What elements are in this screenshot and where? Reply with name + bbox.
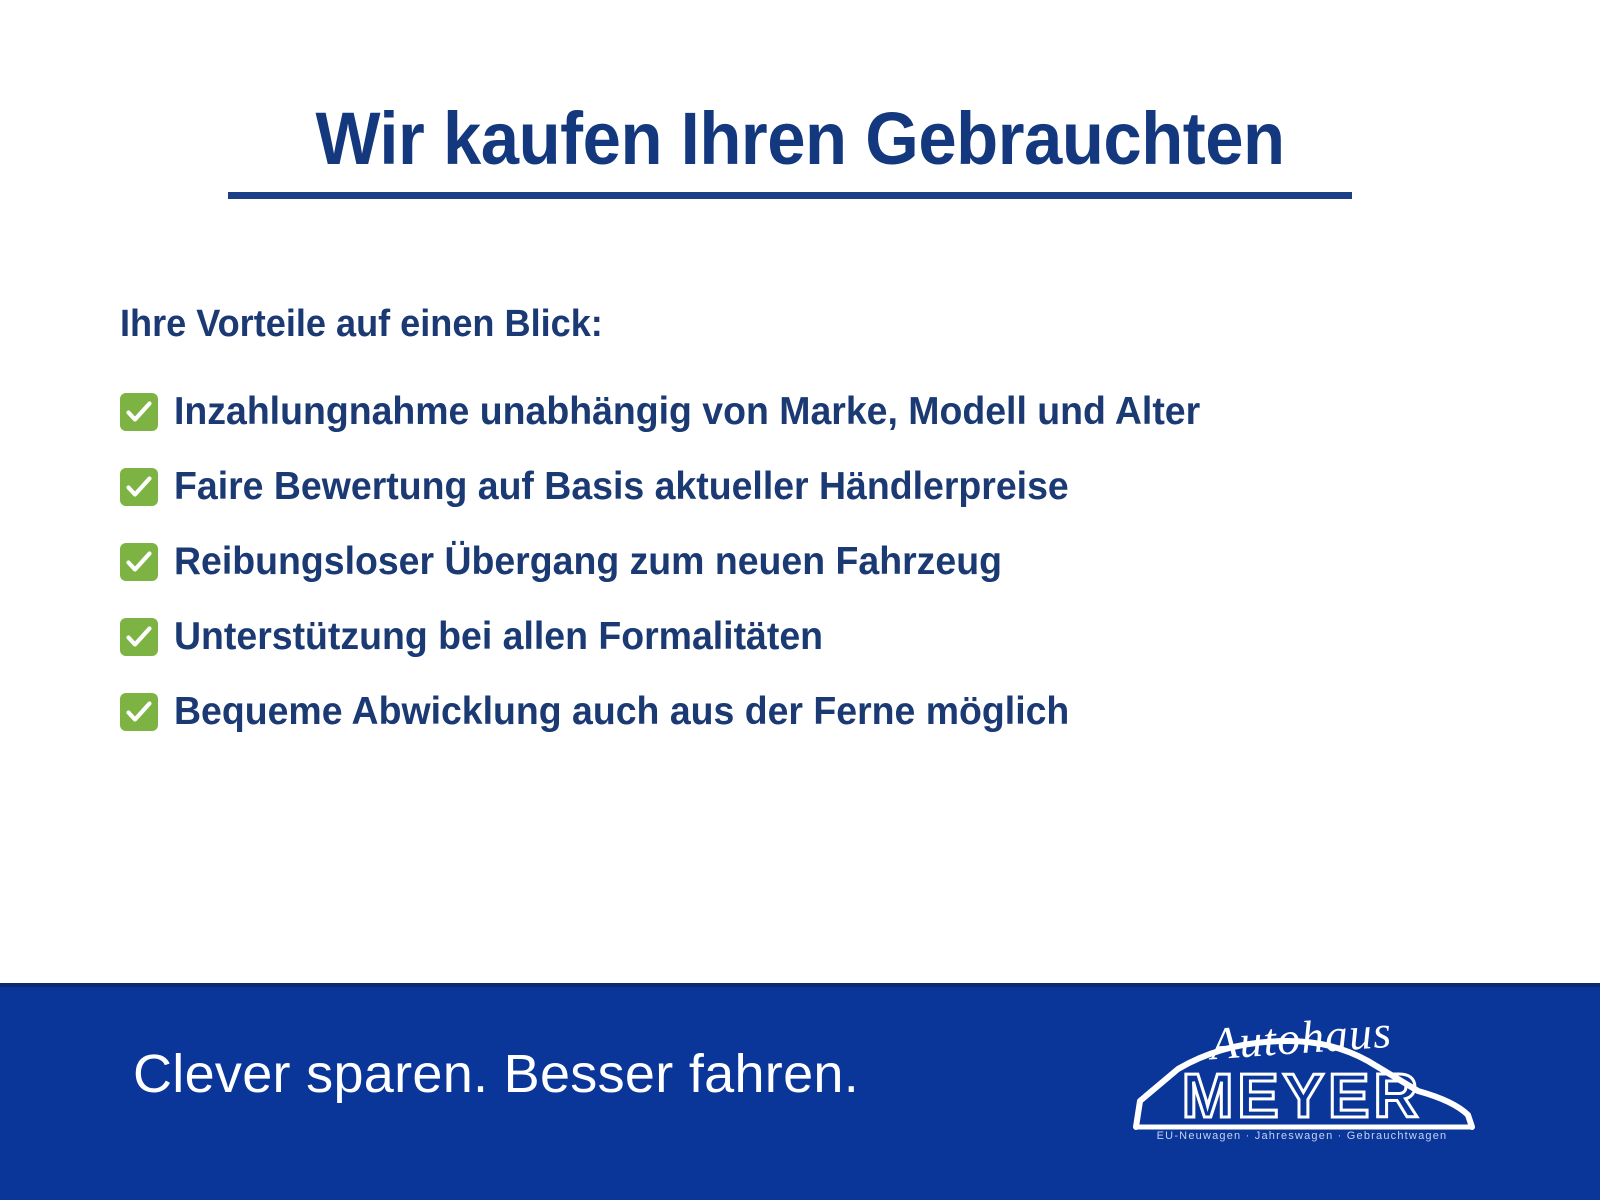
logo-block-name: MEYER — [1182, 1062, 1422, 1131]
list-item: Bequeme Abwicklung auch aus der Ferne mö… — [120, 674, 1520, 749]
page-title-container: Wir kaufen Ihren Gebrauchten — [0, 96, 1600, 182]
page-title: Wir kaufen Ihren Gebrauchten — [312, 96, 1289, 182]
list-item-label: Faire Bewertung auf Basis aktueller Händ… — [174, 465, 1069, 509]
benefits-intro-heading: Ihre Vorteile auf einen Blick: — [120, 300, 603, 348]
list-item-label: Unterstützung bei allen Formalitäten — [174, 615, 823, 659]
page-title-underline — [228, 192, 1352, 199]
list-item-label: Bequeme Abwicklung auch aus der Ferne mö… — [174, 690, 1069, 734]
check-icon — [120, 393, 158, 431]
check-icon — [120, 693, 158, 731]
check-icon — [120, 618, 158, 656]
list-item: Reibungsloser Übergang zum neuen Fahrzeu… — [120, 524, 1520, 599]
benefits-list: Inzahlungnahme unabhängig von Marke, Mod… — [120, 374, 1520, 749]
footer-slogan: Clever sparen. Besser fahren. — [133, 1043, 859, 1105]
check-icon — [120, 468, 158, 506]
list-item: Faire Bewertung auf Basis aktueller Händ… — [120, 449, 1520, 524]
advertisement-page: Wir kaufen Ihren Gebrauchten Ihre Vortei… — [0, 0, 1600, 1200]
list-item-label: Inzahlungnahme unabhängig von Marke, Mod… — [174, 390, 1200, 434]
brand-logo: Autohaus MEYER EU-Neuwagen · Jahreswagen… — [1118, 1005, 1486, 1155]
logo-tagline: EU-Neuwagen · Jahreswagen · Gebrauchtwag… — [1157, 1130, 1448, 1142]
check-icon — [120, 543, 158, 581]
list-item-label: Reibungsloser Übergang zum neuen Fahrzeu… — [174, 540, 1002, 584]
list-item: Inzahlungnahme unabhängig von Marke, Mod… — [120, 374, 1520, 449]
list-item: Unterstützung bei allen Formalitäten — [120, 599, 1520, 674]
footer-banner: Clever sparen. Besser fahren. Autohaus M… — [0, 983, 1600, 1200]
